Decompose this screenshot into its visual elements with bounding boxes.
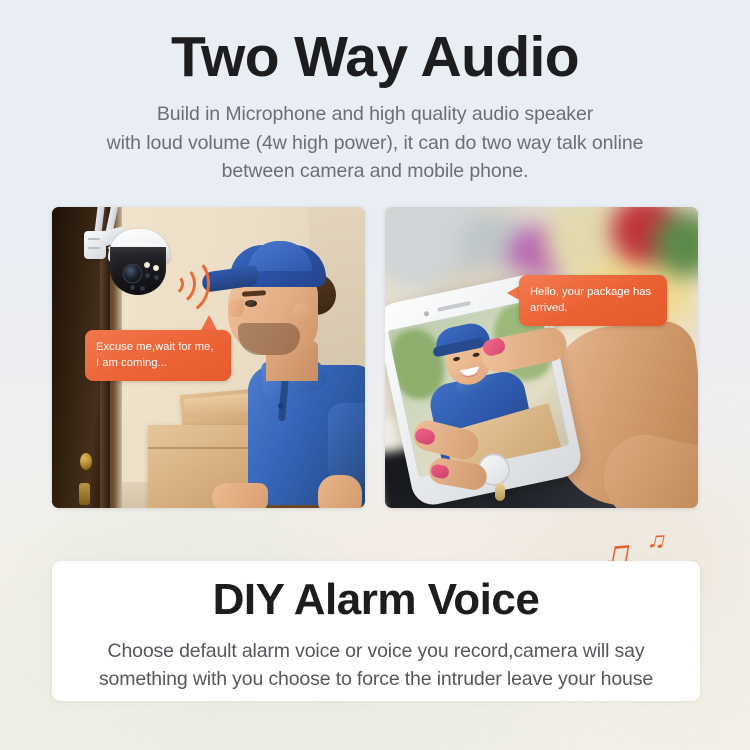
delivery-man-sleeve — [328, 403, 365, 485]
photo-delivery-at-door: CAM Excuse me,wait for me, I am coming..… — [52, 207, 365, 508]
door-knob-icon — [80, 453, 92, 470]
header-section: Two Way Audio Build in Microphone and hi… — [0, 0, 750, 186]
delivery-man-ear — [292, 303, 310, 325]
subtitle-line: with loud volume (4w high power), it can… — [0, 129, 750, 157]
speech-bubble-phone: Hello, your package has arrived. — [519, 275, 667, 326]
phone-earpiece — [437, 301, 471, 312]
door-lock-plate — [79, 483, 90, 505]
photo-phone-video-call: Hello, your package has arrived. — [385, 207, 698, 508]
camera-led — [144, 262, 150, 268]
camera-ir-led — [130, 285, 135, 290]
delivery-man-hand — [212, 483, 268, 508]
card-description: Choose default alarm voice or voice you … — [52, 638, 700, 693]
speech-bubble-camera: Excuse me,wait for me, I am coming... — [85, 330, 231, 381]
scene-doorway: CAM Excuse me,wait for me, I am coming..… — [52, 207, 365, 508]
page-title: Two Way Audio — [0, 27, 750, 87]
speech-bubble-line: arrived. — [530, 300, 656, 316]
delivery-man-eye — [245, 300, 257, 307]
finger-ring — [495, 483, 505, 501]
camera-ir-led — [145, 273, 150, 278]
speech-bubble-line: I am coming... — [96, 355, 220, 371]
camera-mount-detail — [88, 238, 100, 240]
card-description-line: Choose default alarm voice or voice you … — [52, 638, 700, 666]
scene-kitchen: Hello, your package has arrived. — [385, 207, 698, 508]
camera-mount-detail — [88, 247, 100, 249]
card-description-line: something with you choose to force the i… — [52, 666, 700, 694]
promo-page: Two Way Audio Build in Microphone and hi… — [0, 0, 750, 750]
subtitle-line: Build in Microphone and high quality aud… — [0, 100, 750, 128]
page-subtitle: Build in Microphone and high quality aud… — [0, 100, 750, 185]
phone-front-camera-icon — [424, 311, 430, 317]
delivery-man-button — [278, 403, 284, 409]
delivery-man-beard — [238, 323, 300, 355]
camera-lens-icon — [124, 265, 141, 282]
speech-bubble-line: Excuse me,wait for me, — [96, 339, 220, 355]
speech-bubble-line: Hello, your package has — [530, 284, 656, 300]
subtitle-line: between camera and mobile phone. — [0, 157, 750, 185]
card-title: DIY Alarm Voice — [52, 575, 700, 625]
music-note-icon: ♫ — [646, 526, 670, 554]
camera-ir-led — [140, 286, 145, 291]
diy-alarm-voice-card: DIY Alarm Voice Choose default alarm voi… — [52, 561, 700, 701]
delivery-man-nose — [228, 299, 244, 317]
delivery-man-forearm — [318, 475, 362, 508]
